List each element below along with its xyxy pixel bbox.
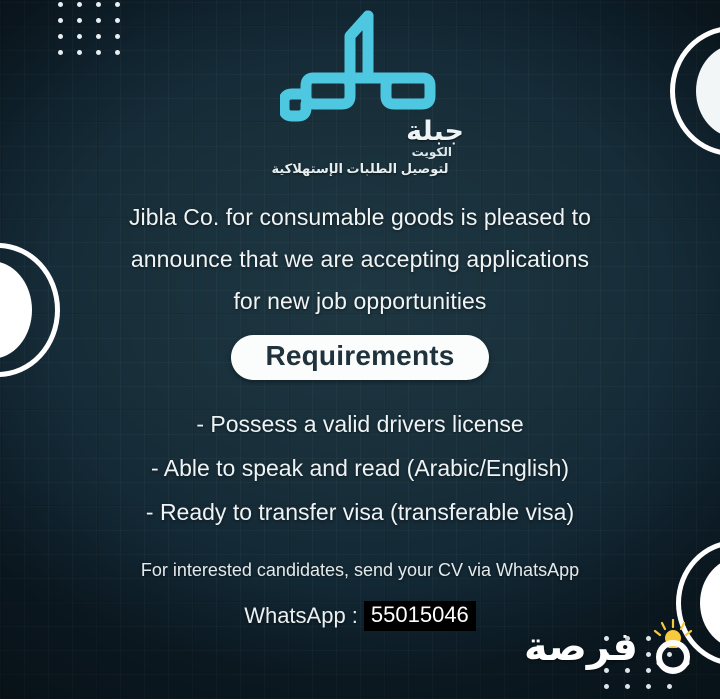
requirement-item: - Able to speak and read (Arabic/English… [40, 446, 680, 490]
contact-instruction-text: For interested candidates, send your CV … [141, 560, 579, 581]
job-ad-poster: جبلة الكويت لتوصيل الطلبات الإستهلاكية J… [0, 0, 720, 699]
forsa-watermark: فرصة [524, 619, 704, 675]
brand-tagline-arabic: لتوصيل الطلبات الإستهلاكية [271, 161, 448, 177]
jibla-logo-mark-icon [280, 4, 440, 122]
requirements-heading-badge: Requirements [231, 335, 488, 380]
requirements-list: - Possess a valid drivers license - Able… [40, 402, 680, 534]
whatsapp-contact-row[interactable]: WhatsApp : 55015046 [244, 601, 476, 631]
intro-line: for new job opportunities [60, 281, 660, 323]
brand-logo-block: جبلة الكويت لتوصيل الطلبات الإستهلاكية [250, 4, 470, 177]
brand-wordmark-arabic: جبلة [406, 118, 464, 145]
lightbulb-icon [642, 619, 704, 675]
intro-line: announce that we are accepting applicati… [60, 239, 660, 281]
intro-line: Jibla Co. for consumable goods is please… [60, 197, 660, 239]
poster-content: جبلة الكويت لتوصيل الطلبات الإستهلاكية J… [0, 0, 720, 699]
brand-subtitle-arabic: الكويت [412, 146, 452, 159]
whatsapp-label: WhatsApp : [244, 603, 358, 629]
announcement-intro-text: Jibla Co. for consumable goods is please… [60, 197, 660, 323]
watermark-text-arabic: فرصة [524, 624, 638, 670]
requirement-item: - Ready to transfer visa (transferable v… [40, 490, 680, 534]
requirement-item: - Possess a valid drivers license [40, 402, 680, 446]
whatsapp-number-value[interactable]: 55015046 [364, 601, 476, 631]
